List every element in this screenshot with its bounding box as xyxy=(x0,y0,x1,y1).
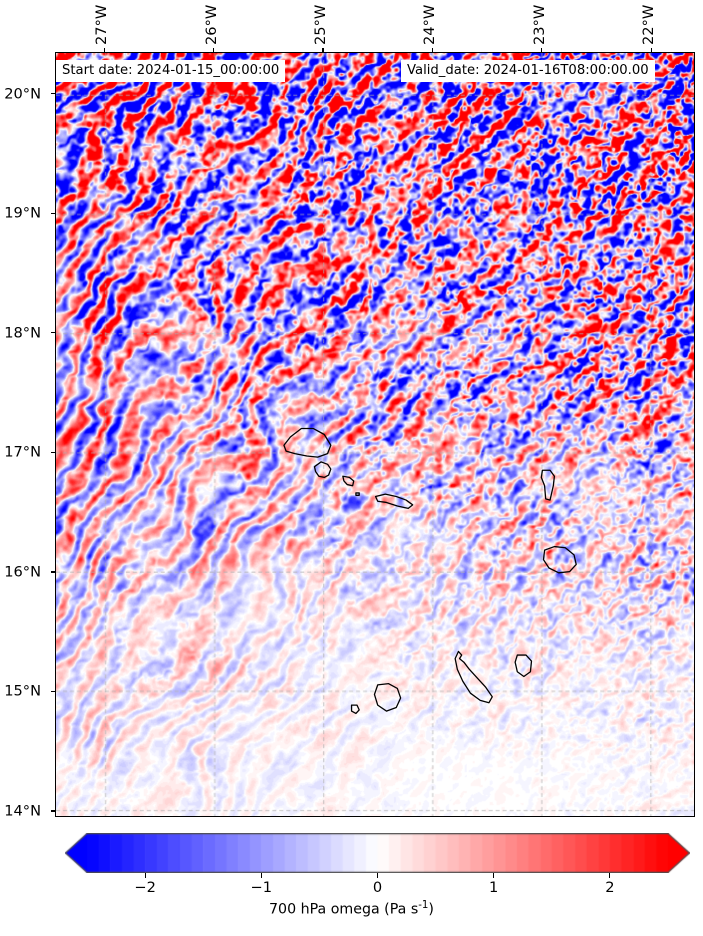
colorbar-tick-mark xyxy=(609,873,610,878)
colorbar-label-exponent: -1 xyxy=(418,900,428,911)
y-tick-label: 17°N xyxy=(4,444,41,461)
colorbar-tick-mark xyxy=(377,873,378,878)
colorbar-label-close: ) xyxy=(428,902,434,918)
y-tick-label: 16°N xyxy=(4,563,41,580)
x-axis-labels: 27°W26°W25°W24°W23°W22°W xyxy=(0,0,703,52)
y-tick-label: 15°N xyxy=(4,683,41,700)
y-tick-label: 14°N xyxy=(4,803,41,820)
x-tick-label: 24°W xyxy=(421,5,438,45)
omega-field-heatmap xyxy=(56,53,694,816)
x-tick-mark xyxy=(104,48,105,52)
colorbar-gradient xyxy=(65,833,690,873)
x-tick-mark xyxy=(432,48,433,52)
valid-date-annotation: Valid_date: 2024-01-16T08:00:00.00 xyxy=(401,60,655,82)
colorbar-tick-label: −1 xyxy=(251,879,273,896)
x-tick-mark xyxy=(541,48,542,52)
colorbar-tick-label: 2 xyxy=(605,879,614,896)
y-tick-label: 20°N xyxy=(4,85,41,102)
colorbar xyxy=(65,833,690,873)
colorbar-axis-label: 700 hPa omega (Pa s-1) xyxy=(0,900,703,918)
x-tick-mark xyxy=(651,48,652,52)
y-tick-mark xyxy=(51,332,55,333)
x-tick-label: 23°W xyxy=(531,5,548,45)
y-tick-mark xyxy=(51,571,55,572)
colorbar-label-text: 700 hPa omega (Pa s xyxy=(269,902,418,918)
colorbar-tick-label: 0 xyxy=(373,879,382,896)
x-tick-mark xyxy=(213,48,214,52)
y-tick-mark xyxy=(51,93,55,94)
x-tick-label: 26°W xyxy=(203,5,220,45)
start-date-annotation: Start date: 2024-01-15_00:00:00 xyxy=(56,60,285,82)
figure-canvas: 14°N15°N16°N17°N18°N19°N20°N 27°W26°W25°… xyxy=(0,0,703,936)
colorbar-tick-mark xyxy=(145,873,146,878)
x-tick-mark xyxy=(322,48,323,52)
x-tick-label: 22°W xyxy=(640,5,657,45)
y-tick-mark xyxy=(51,213,55,214)
x-tick-label: 25°W xyxy=(312,5,329,45)
x-tick-label: 27°W xyxy=(93,5,110,45)
y-axis-labels: 14°N15°N16°N17°N18°N19°N20°N xyxy=(0,0,50,936)
y-tick-mark xyxy=(51,452,55,453)
colorbar-tick-label: 1 xyxy=(489,879,498,896)
colorbar-tick-mark xyxy=(261,873,262,878)
colorbar-tick-mark xyxy=(493,873,494,878)
y-tick-label: 18°N xyxy=(4,324,41,341)
y-tick-mark xyxy=(51,691,55,692)
y-tick-mark xyxy=(51,810,55,811)
map-axes xyxy=(55,52,695,817)
colorbar-tick-label: −2 xyxy=(134,879,156,896)
y-tick-label: 19°N xyxy=(4,205,41,222)
